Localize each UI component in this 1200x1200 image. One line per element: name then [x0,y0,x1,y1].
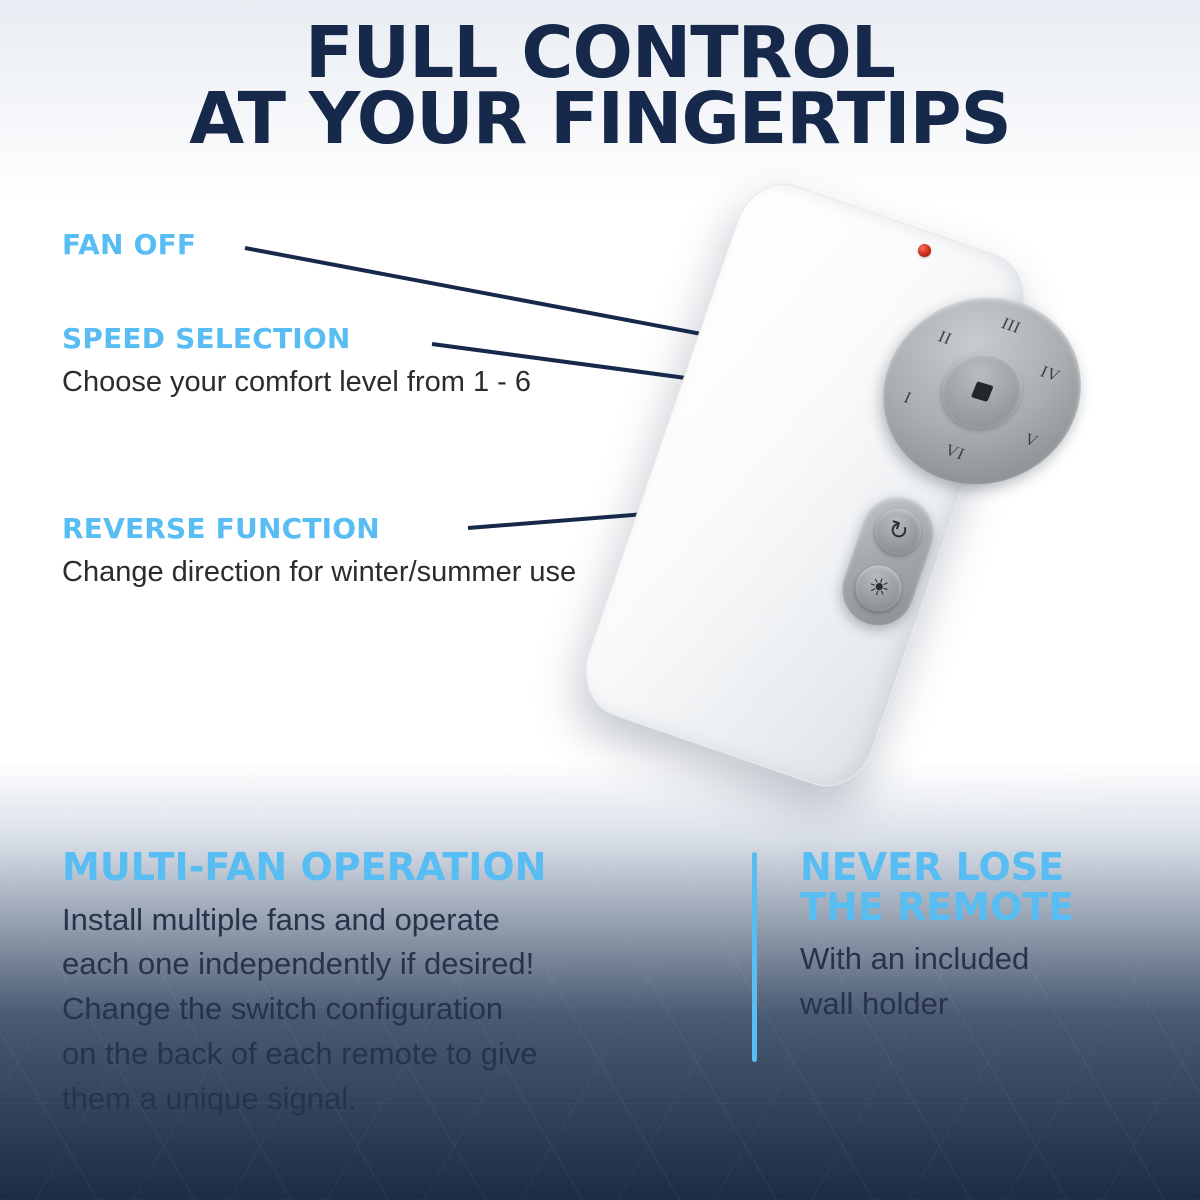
remote-body [572,171,1038,798]
fan-off-icon [971,381,994,402]
callout-speed-selection-body: Choose your comfort level from 1 - 6 [62,363,531,402]
panel-never-lose-remote: NEVER LOSE THE REMOTE With an included w… [800,848,1160,1027]
panel-multi-fan-line-1: Install multiple fans and operate [62,898,722,943]
panel-multi-fan-title: MULTI-FAN OPERATION [62,848,722,888]
callout-reverse-function-body-line-1: Change direction for [62,556,323,588]
light-bulb-icon[interactable]: ☀ [849,559,907,617]
callout-fan-off: FAN OFF [62,228,196,261]
page-title: FULL CONTROL AT YOUR FINGERTIPS [0,20,1200,152]
panel-multi-fan-body: Install multiple fans and operate each o… [62,898,722,1123]
panel-never-lose-title-line-2: THE REMOTE [800,888,1160,928]
callout-fan-off-title: FAN OFF [62,228,196,261]
dial-label-ii[interactable]: II [935,326,955,348]
dial-label-vi[interactable]: VI [942,440,968,465]
callout-reverse-function: REVERSE FUNCTION Change direction for wi… [62,512,576,592]
callout-speed-selection: SPEED SELECTION Choose your comfort leve… [62,322,531,402]
panel-multi-fan-line-4: on the back of each remote to give [62,1032,722,1077]
panel-multi-fan-line-2: each one independently if desired! [62,942,722,987]
panel-multi-fan-line-5: them a unique signal. [62,1077,722,1122]
panel-multi-fan-line-3: Change the switch configuration [62,987,722,1032]
panel-never-lose-title-line-1: NEVER LOSE [800,848,1160,888]
callout-reverse-function-body: Change direction for winter/summer use [62,553,576,592]
panel-never-lose-line-1: With an included [800,937,1160,982]
panel-never-lose-title: NEVER LOSE THE REMOTE [800,848,1160,927]
dial-label-v[interactable]: V [1021,429,1041,452]
panel-never-lose-line-2: wall holder [800,982,1160,1027]
callout-speed-selection-body-line-2: level from 1 - 6 [339,366,531,398]
panel-never-lose-body: With an included wall holder [800,937,1160,1027]
callout-speed-selection-title: SPEED SELECTION [62,322,531,355]
callout-reverse-function-title: REVERSE FUNCTION [62,512,576,545]
callout-speed-selection-body-line-1: Choose your comfort [62,366,331,398]
dial-label-iii[interactable]: III [998,314,1024,338]
fan-off-button[interactable] [929,343,1035,440]
remote-control-image: III II IV I V VI ↻ ☀ [600,195,1200,815]
power-indicator-led [918,244,931,257]
callout-reverse-function-body-line-2: winter/summer use [331,556,576,588]
panel-multi-fan-operation: MULTI-FAN OPERATION Install multiple fan… [62,848,722,1122]
dial-label-i[interactable]: I [901,388,915,408]
headline-line-2: AT YOUR FINGERTIPS [0,86,1200,152]
dial-label-iv[interactable]: IV [1037,362,1063,387]
reverse-arrow-icon[interactable]: ↻ [869,502,927,560]
panel-divider [752,852,757,1062]
